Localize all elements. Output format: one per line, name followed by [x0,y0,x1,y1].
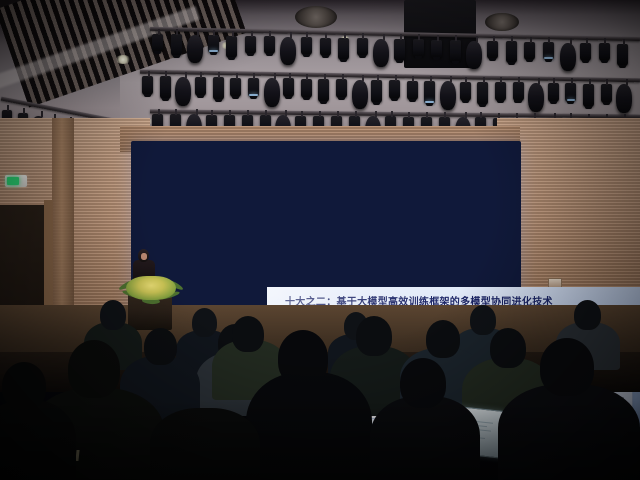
light-hanger [604,38,606,44]
exit-sign-glow [7,177,19,185]
light-hanger [586,38,588,44]
audience-head [192,308,217,337]
light-hanger [265,110,267,116]
moving-head-light [616,84,632,113]
par-can-light [460,82,471,101]
light-hanger [483,77,485,83]
par-can-light [394,39,405,61]
par-can-light [477,82,488,105]
audience-head-front [2,362,46,410]
light-hanger [548,37,550,43]
par-can-light [599,43,610,61]
light-hanger [355,111,357,117]
light-hanger [158,109,160,115]
light-hanger [175,109,177,115]
light-hanger [306,74,308,80]
light-hanger [511,36,513,42]
par-can-light [548,83,559,102]
audience-head-front [68,340,120,398]
par-can-light [301,79,312,98]
moving-head-light [352,80,368,109]
par-can-light [424,81,435,104]
light-hanger [362,33,364,39]
audience-head [144,328,177,365]
light-hanger [444,112,446,118]
audience-member-front [150,408,260,480]
light-hanger [200,72,202,78]
light-hanger [465,77,467,83]
audience-head [232,316,264,352]
audience [0,300,640,480]
moving-head-light [560,43,576,71]
par-can-light [208,35,219,53]
par-can-light [431,40,442,58]
light-hanger [408,112,410,118]
par-can-light [160,76,171,99]
par-can-light [601,84,612,103]
light-hanger [362,75,364,81]
par-can-light [336,79,347,98]
light-hanger [426,112,428,118]
light-hanger [571,78,573,84]
flower-cluster [126,276,176,300]
audience-head-front [540,338,594,396]
light-hanger [589,79,591,85]
light-hanger [324,74,326,80]
light-hanger [319,111,321,117]
par-can-light [152,34,163,52]
light-hanger [391,111,393,117]
stripe [75,450,79,461]
par-can-light [318,79,329,102]
audience-member-front [498,384,640,480]
light-hanger [218,72,220,78]
par-can-light [506,41,517,63]
par-can-light [583,84,594,107]
audience-head [470,305,496,335]
light-hanger [269,31,271,37]
par-can-light [617,44,628,66]
light-hanger [538,78,540,84]
light-hanger [553,78,555,84]
moving-head-light [175,77,191,106]
par-can-light [283,78,294,97]
par-can-light [264,36,275,54]
light-hanger [7,105,9,111]
audience-member-front [0,400,76,480]
audience-head [426,320,460,358]
light-hanger [196,109,198,115]
light-hanger [211,110,213,116]
light-hanger [430,76,432,82]
par-can-light [450,40,461,62]
par-can-light [245,36,256,54]
ceiling-vent [295,6,337,28]
light-hanger [337,111,339,117]
audience-head [490,328,526,368]
par-can-light [338,38,349,60]
audience-member-front [246,372,372,480]
light-hanger [570,38,572,44]
par-can-light [357,38,368,56]
moving-head-light [280,37,296,65]
light-hanger [301,111,303,117]
par-can-light [524,42,535,60]
par-can-light [565,83,576,102]
audience-member-front [370,396,480,480]
light-hanger [176,29,178,35]
exit-sign [5,175,27,187]
par-can-light [213,77,224,100]
light-hanger [626,79,628,85]
light-hanger [480,112,482,118]
par-can-light [513,82,524,101]
light-hanger [247,110,249,116]
par-can-light [371,80,382,103]
par-can-light [407,81,418,100]
par-can-light [171,34,182,56]
light-hanger [450,76,452,82]
par-can-light [142,76,153,95]
moving-head-light [264,78,280,107]
par-can-light [230,78,241,97]
light-hanger [377,75,379,81]
light-hanger [500,77,502,83]
moving-head-light [187,35,203,63]
par-can-light [495,82,506,101]
audience-head-front [278,330,328,386]
light-hanger [285,110,287,116]
par-can-light [487,41,498,59]
ceiling-downlight [115,55,131,64]
light-hanger [395,75,397,81]
light-hanger [325,33,327,39]
light-hanger [41,111,43,117]
light-hanger [412,76,414,82]
light-hanger [229,110,231,116]
light-hanger [342,74,344,80]
par-can-light [195,77,206,96]
light-hanger [232,31,234,37]
light-hanger [518,77,520,83]
audience-head-front [400,358,446,408]
light-hanger [465,112,467,118]
light-hanger [197,30,199,36]
light-hanger [530,37,532,43]
light-hanger [236,73,238,79]
light-hanger [23,108,25,114]
par-can-light [413,39,424,57]
light-hanger [383,34,385,40]
par-can-light [248,78,259,97]
light-hanger [185,72,187,78]
ceiling-vent [485,13,519,31]
light-hanger [375,111,377,117]
moving-head-light [466,41,482,69]
light-hanger [437,35,439,41]
par-can-light [320,38,331,56]
presenter-face [141,253,147,260]
audience-head [100,300,126,330]
audience-head [574,300,601,330]
projection-screen-bezel: 十大之二：基于大模型高效训练框架的多模型协同进化技术 该发明技术提出了基于大模型… [131,141,521,316]
light-hanger [158,29,160,35]
light-hanger [165,71,167,77]
light-hanger [455,35,457,41]
light-hanger [623,39,625,45]
conference-hall-photo: 十大之二：基于大模型高效训练框架的多模型协同进化技术 该发明技术提出了基于大模型… [0,0,640,480]
light-hanger [306,32,308,38]
audience-head [356,316,392,356]
light-hanger [400,34,402,40]
light-hanger [418,34,420,40]
moving-head-light [373,39,389,67]
light-hanger [274,73,276,79]
light-hanger [251,31,253,37]
light-hanger [213,30,215,36]
light-hanger [253,73,255,79]
moving-head-light [528,83,544,112]
light-hanger [606,79,608,85]
par-can-light [580,43,591,61]
light-hanger [476,36,478,42]
light-hanger [148,71,150,77]
moving-head-light [440,81,456,110]
light-hanger [493,36,495,42]
par-can-light [543,42,554,60]
light-hanger [289,73,291,79]
light-hanger [344,33,346,39]
par-can-light [226,36,237,58]
par-can-light [301,37,312,55]
par-can-light [389,80,400,99]
light-hanger [290,32,292,38]
